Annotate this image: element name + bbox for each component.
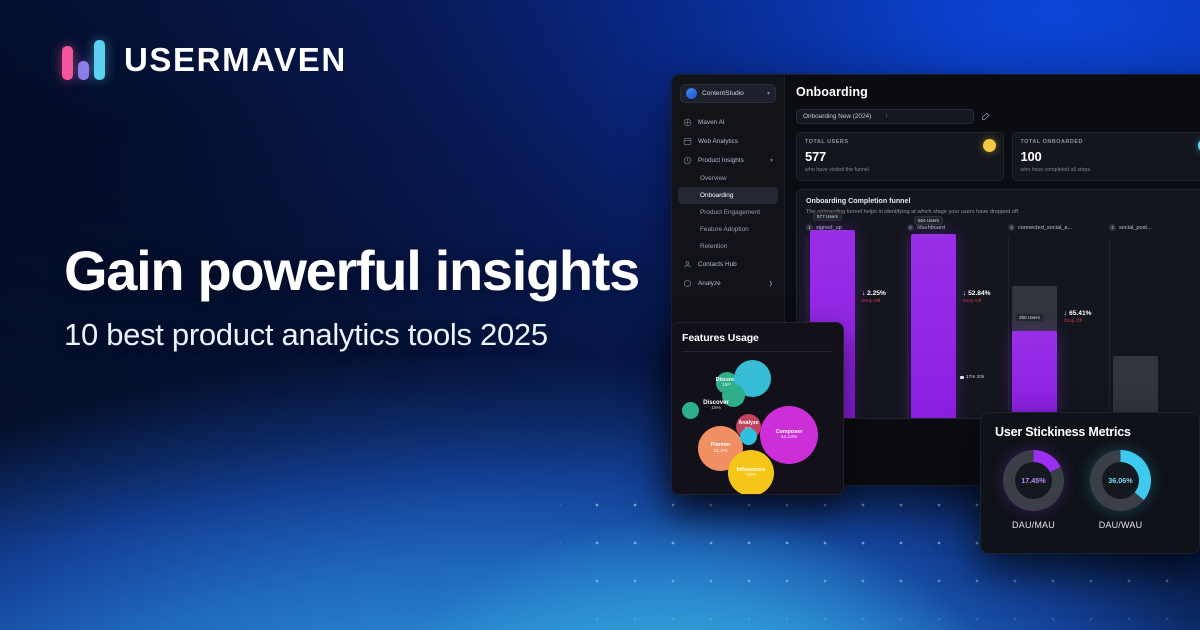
funnel-select[interactable]: Onboarding New (2024) ↕ xyxy=(796,109,974,124)
sidebar-nav: Maven AIWeb AnalyticsProduct Insights▾Ov… xyxy=(672,113,784,293)
funnel-time-marker: 17m 20s xyxy=(960,375,984,380)
sidebar-item-label: Maven AI xyxy=(698,119,725,126)
bubble-composer[interactable]: Composer44.14% xyxy=(760,406,818,464)
sidebar-item-analyze[interactable]: Analyze❯ xyxy=(678,274,778,293)
time-dot-icon xyxy=(960,376,964,380)
funnel-step: 2/dashboard564 Users↓ 52.84%Drop Off17m … xyxy=(907,224,1008,418)
stat-card-value: 577 xyxy=(805,149,995,164)
funnel-dropoff-label: Drop Off xyxy=(862,299,886,304)
funnel-bar-value: 266 Users xyxy=(1015,313,1044,322)
funnel-dropoff-pct: ↓ 52.84% xyxy=(963,290,991,297)
ring-label: DAU/WAU xyxy=(1090,520,1151,530)
funnel-time-value: 17m 20s xyxy=(966,375,984,380)
funnel-dropoff-label: Drop Off xyxy=(963,299,991,304)
funnel-step-number: 3 xyxy=(1008,224,1015,231)
funnel-step-header: 4social_post... xyxy=(1109,224,1200,231)
sidebar-item-web-analytics[interactable]: Web Analytics xyxy=(678,132,778,151)
funnel-bar[interactable] xyxy=(911,234,956,418)
bubble-value: 10% xyxy=(746,473,756,479)
stat-card-label: TOTAL ONBOARDED xyxy=(1021,139,1200,145)
workspace-switcher[interactable]: ContentStudio ▾ xyxy=(680,84,776,103)
funnel-divider xyxy=(907,237,908,418)
funnel-select-row: Onboarding New (2024) ↕ xyxy=(796,109,1200,124)
bubble-discover-label: Discover15% xyxy=(688,392,744,418)
ring-value: 36.06% xyxy=(1090,450,1151,511)
sidebar-item-label: Feature Adoption xyxy=(700,226,749,233)
funnel-step-number: 2 xyxy=(907,224,914,231)
chevron-down-icon: ▾ xyxy=(770,158,773,164)
stat-cards: TOTAL USERS577who have visited the funne… xyxy=(796,132,1200,181)
funnel-dropoff-pct: ↓ 65.41% xyxy=(1064,310,1092,317)
stickiness-ring-dau-wau: 36.06%DAU/WAU xyxy=(1090,450,1151,530)
donut-chart: 17.45% xyxy=(1003,450,1064,511)
stat-card-value: 100 xyxy=(1021,149,1200,164)
funnel-steps: 1signed_up577 Users↓ 2.25%Drop Off2/dash… xyxy=(806,224,1200,418)
page-subtitle: 10 best product analytics tools 2025 xyxy=(64,317,704,353)
bubble-label: Discover xyxy=(703,399,729,406)
funnel-select-value: Onboarding New (2024) xyxy=(803,113,885,120)
hero-text-block: Gain powerful insights 10 best product a… xyxy=(64,242,704,353)
stickiness-rings: 17.45%DAU/MAU36.06%DAU/WAU xyxy=(995,450,1185,530)
funnel-bar-ghost xyxy=(1113,356,1158,418)
funnel-bar[interactable] xyxy=(1012,331,1057,418)
funnel-dropoff: ↓ 65.41%Drop Off xyxy=(1064,310,1092,324)
sidebar-item-label: Analyze xyxy=(698,280,721,287)
bubble-value: 44.14% xyxy=(781,435,798,441)
funnel-step-header: 3connected_social_a... xyxy=(1008,224,1109,231)
funnel-step: 3connected_social_a...266 Users↓ 65.41%D… xyxy=(1008,224,1109,418)
funnel-step-name: /dashboard xyxy=(917,225,945,231)
funnel-chart-card: Onboarding Completion funnel The onboard… xyxy=(796,189,1200,419)
sidebar-item-label: Retention xyxy=(700,243,727,250)
bar-chart-logo-icon xyxy=(62,38,108,82)
cube-icon xyxy=(683,279,692,288)
page-title: Gain powerful insights xyxy=(64,242,704,299)
sidebar-item-overview[interactable]: Overview xyxy=(678,170,778,187)
panel-title: Onboarding xyxy=(796,85,1200,99)
sidebar-item-label: Onboarding xyxy=(700,192,733,199)
funnel-step-name: connected_social_a... xyxy=(1018,225,1072,231)
stickiness-title: User Stickiness Metrics xyxy=(995,425,1185,439)
sidebar-item-contacts-hub[interactable]: Contacts Hub xyxy=(678,255,778,274)
funnel-step: 4social_post... xyxy=(1109,224,1200,418)
funnel-bar-value: 577 Users xyxy=(813,212,842,221)
funnel-step-number: 4 xyxy=(1109,224,1116,231)
stepper-icon[interactable]: ↕ xyxy=(885,114,967,119)
stickiness-ring-dau-mau: 17.45%DAU/MAU xyxy=(1003,450,1064,530)
window-icon xyxy=(683,137,692,146)
features-usage-card: Features Usage Composer44.14%Planner21.2… xyxy=(671,322,844,495)
sidebar-item-label: Product Engagement xyxy=(700,209,760,216)
sidebar-item-label: Product Insights xyxy=(698,157,744,164)
workspace-avatar-icon xyxy=(686,88,697,99)
sparkle-icon xyxy=(683,118,692,127)
chevron-right-icon: ❯ xyxy=(768,281,773,287)
funnel-dropoff-label: Drop Off xyxy=(1064,319,1092,324)
funnel-divider xyxy=(1109,237,1110,418)
ring-label: DAU/MAU xyxy=(1003,520,1064,530)
user-stickiness-card: User Stickiness Metrics 17.45%DAU/MAU36.… xyxy=(980,412,1200,554)
stat-card-label: TOTAL USERS xyxy=(805,139,995,145)
funnel-dropoff: ↓ 2.25%Drop Off xyxy=(862,290,886,304)
stat-card: TOTAL USERS577who have visited the funne… xyxy=(796,132,1004,181)
funnel-dropoff: ↓ 52.84%Drop Off xyxy=(963,290,991,304)
sidebar-item-label: Web Analytics xyxy=(698,138,738,145)
brand-logo: USERMAVEN xyxy=(62,38,347,82)
donut-chart: 36.06% xyxy=(1090,450,1151,511)
funnel-step-name: social_post... xyxy=(1119,225,1152,231)
sidebar-item-product-insights[interactable]: Product Insights▾ xyxy=(678,151,778,170)
sidebar-item-retention[interactable]: Retention xyxy=(678,238,778,255)
coin-icon xyxy=(983,139,996,152)
bubble-influencers[interactable]: Influencers10% xyxy=(728,450,774,495)
brand-name: USERMAVEN xyxy=(124,41,347,79)
bubble-value: 21.2% xyxy=(714,449,728,455)
stat-card-caption: who have completed all steps. xyxy=(1021,167,1200,173)
person-icon xyxy=(683,260,692,269)
sidebar-item-product-engagement[interactable]: Product Engagement xyxy=(678,204,778,221)
bubble-n7[interactable] xyxy=(740,428,757,445)
edit-square-icon[interactable] xyxy=(981,112,990,121)
funnel-bar-value: 564 Users xyxy=(914,216,943,225)
bubble-chart: Composer44.14%Planner21.2%Influencers10%… xyxy=(676,350,839,492)
chevron-down-icon: ▾ xyxy=(767,90,770,97)
funnel-dropoff-pct: ↓ 2.25% xyxy=(862,290,886,297)
stat-card-caption: who have visited the funnel. xyxy=(805,167,995,173)
sidebar-item-feature-adoption[interactable]: Feature Adoption xyxy=(678,221,778,238)
features-usage-title: Features Usage xyxy=(682,332,833,344)
funnel-step-header: 2/dashboard xyxy=(907,224,1008,231)
funnel-subtitle: The onboarding funnel helps in identifyi… xyxy=(806,209,1200,215)
workspace-name: ContentStudio xyxy=(702,90,762,97)
sidebar-item-label: Contacts Hub xyxy=(698,261,737,268)
sidebar-item-label: Overview xyxy=(700,175,727,182)
funnel-title: Onboarding Completion funnel xyxy=(806,197,1200,205)
stat-card: TOTAL ONBOARDED100who have completed all… xyxy=(1012,132,1200,181)
clock-icon xyxy=(683,156,692,165)
sidebar-item-onboarding[interactable]: Onboarding xyxy=(678,187,778,204)
sidebar-item-maven-ai[interactable]: Maven AI xyxy=(678,113,778,132)
poster-canvas: USERMAVEN Gain powerful insights 10 best… xyxy=(0,0,1200,630)
funnel-divider xyxy=(1008,237,1009,418)
ring-value: 17.45% xyxy=(1003,450,1064,511)
bubble-value: 15% xyxy=(711,406,721,412)
